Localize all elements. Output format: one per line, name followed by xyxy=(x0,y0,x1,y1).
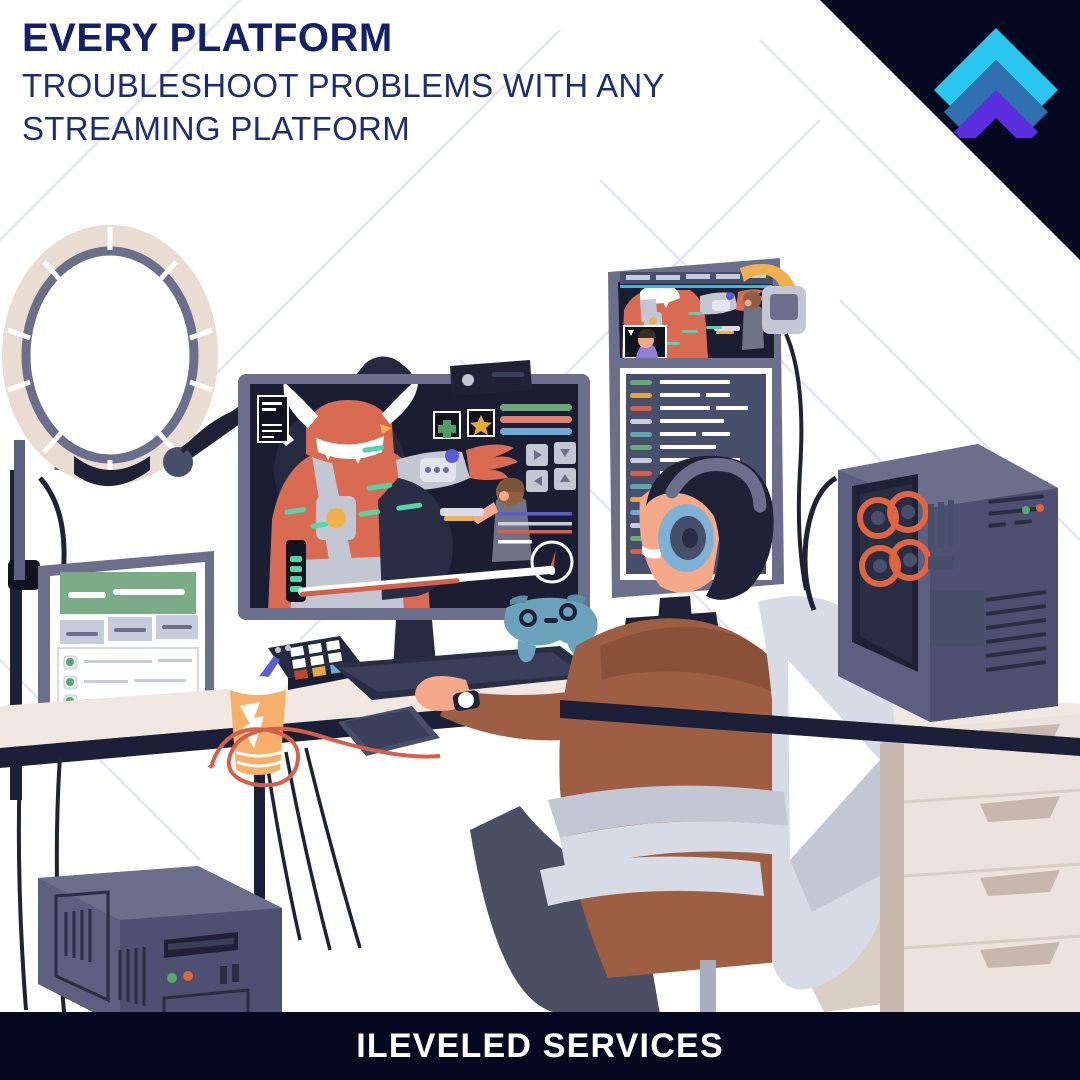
subtitle-line-1: TROUBLESHOOT PROBLEMS WITH ANY xyxy=(22,67,665,104)
picture-in-picture-webcam xyxy=(624,326,666,358)
hud-status-bars xyxy=(500,404,572,435)
headline-block: EVERY PLATFORM TROUBLESHOOT PROBLEMS WIT… xyxy=(22,16,665,151)
hud-compass-gauge xyxy=(532,542,572,582)
poster-canvas: EVERY PLATFORM TROUBLESHOOT PROBLEMS WIT… xyxy=(0,0,1080,1080)
subtitle-line-2: STREAMING PLATFORM xyxy=(22,110,410,147)
footer-bar: ILEVELED SERVICES xyxy=(0,1012,1080,1080)
drawer-cabinet xyxy=(880,714,1080,1012)
webcam xyxy=(450,360,532,396)
page-subtitle: TROUBLESHOOT PROBLEMS WITH ANY STREAMING… xyxy=(22,65,665,151)
brand-name: ILEVELED SERVICES xyxy=(356,1027,723,1066)
page-title: EVERY PLATFORM xyxy=(22,16,665,61)
game-scene xyxy=(250,378,578,612)
chevron-stack-logo xyxy=(926,18,1066,138)
hud-info-panel xyxy=(258,396,288,442)
drink-cup xyxy=(226,656,286,775)
pc-tower-under-desk xyxy=(38,866,282,1026)
